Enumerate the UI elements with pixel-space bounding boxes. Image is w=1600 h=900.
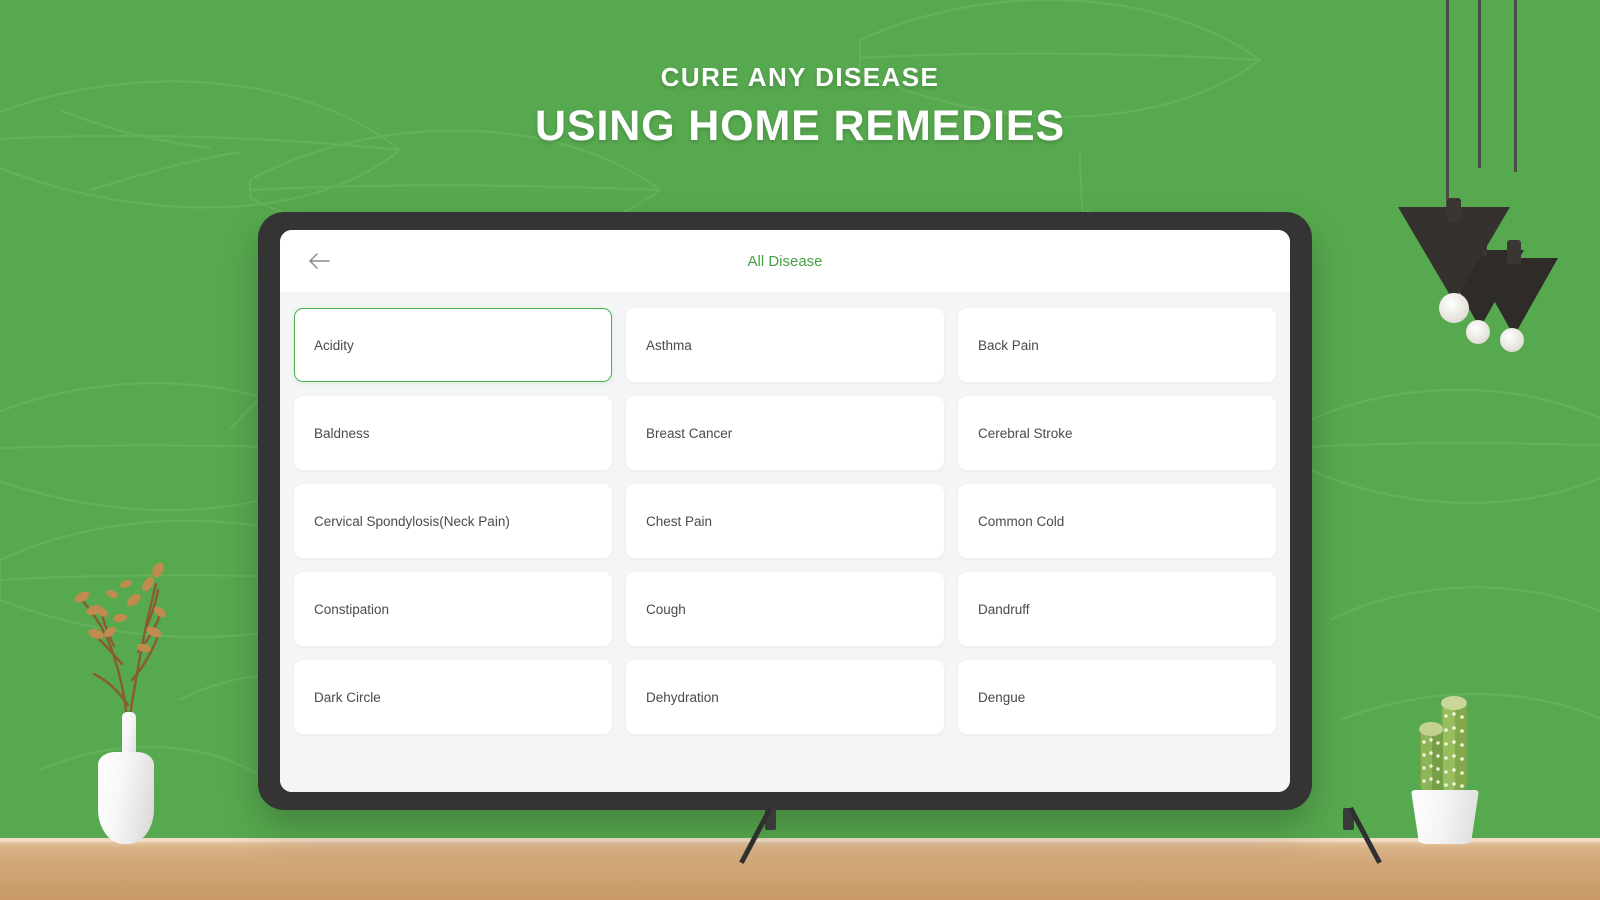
disease-card[interactable]: Breast Cancer [626,396,944,470]
cactus-pot [1411,790,1479,844]
disease-grid: AcidityAsthmaBack PainBaldnessBreast Can… [294,308,1276,734]
disease-card[interactable]: Back Pain [958,308,1276,382]
cactus-plant [1405,690,1485,800]
back-button[interactable] [302,244,336,278]
shelf-top-edge [0,838,1600,842]
disease-label: Baldness [314,426,370,441]
tv-frame: All Disease AcidityAsthmaBack PainBaldne… [258,212,1312,810]
disease-label: Dark Circle [314,690,381,705]
disease-label: Breast Cancer [646,426,732,441]
disease-label: Dandruff [978,602,1030,617]
tv-screen: All Disease AcidityAsthmaBack PainBaldne… [280,230,1290,792]
lamp-bulb-icon [1439,293,1469,323]
promo-headings: CURE ANY DISEASE USING HOME REMEDIES [0,62,1600,151]
disease-card[interactable]: Dehydration [626,660,944,734]
disease-card[interactable]: Dengue [958,660,1276,734]
disease-card[interactable]: Dandruff [958,572,1276,646]
disease-label: Acidity [314,338,354,353]
lamp-cord-2 [1478,0,1481,168]
eyebrow-heading: CURE ANY DISEASE [0,62,1600,93]
disease-label: Chest Pain [646,514,712,529]
pendant-lamp-1 [1398,207,1510,302]
disease-card[interactable]: Baldness [294,396,612,470]
disease-label: Dengue [978,690,1025,705]
promo-scene: CURE ANY DISEASE USING HOME REMEDIES [0,0,1600,900]
disease-card[interactable]: Cerebral Stroke [958,396,1276,470]
disease-label: Cough [646,602,686,617]
dried-branches [60,540,200,730]
disease-card[interactable]: Common Cold [958,484,1276,558]
app-header: All Disease [280,230,1290,292]
lamp-bulb-icon [1500,328,1524,352]
arrow-left-icon [308,253,330,269]
lamp-shade-icon [1398,207,1510,302]
white-vase [98,752,154,844]
disease-card[interactable]: Acidity [294,308,612,382]
disease-card[interactable]: Cervical Spondylosis(Neck Pain) [294,484,612,558]
disease-card[interactable]: Dark Circle [294,660,612,734]
disease-label: Common Cold [978,514,1064,529]
page-title: USING HOME REMEDIES [0,102,1600,151]
disease-label: Cervical Spondylosis(Neck Pain) [314,514,510,529]
lamp-neck [1447,198,1461,222]
wooden-shelf [0,838,1600,900]
disease-card[interactable]: Chest Pain [626,484,944,558]
disease-card[interactable]: Cough [626,572,944,646]
disease-label: Back Pain [978,338,1039,353]
disease-label: Asthma [646,338,692,353]
disease-card[interactable]: Constipation [294,572,612,646]
lamp-cord-3 [1514,0,1517,172]
disease-label: Cerebral Stroke [978,426,1073,441]
disease-label: Constipation [314,602,389,617]
disease-card[interactable]: Asthma [626,308,944,382]
disease-list-panel: AcidityAsthmaBack PainBaldnessBreast Can… [280,292,1290,792]
lamp-cord-1 [1446,0,1449,230]
disease-label: Dehydration [646,690,719,705]
app-title: All Disease [280,253,1290,270]
